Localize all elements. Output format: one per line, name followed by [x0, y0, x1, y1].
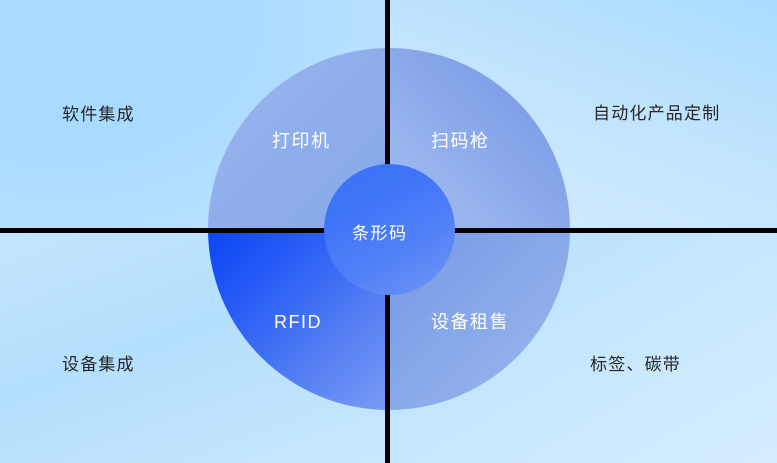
segment-label-printer: 打印机	[272, 132, 331, 150]
outer-label-labels-ribbons: 标签、碳带	[590, 356, 681, 373]
outer-label-software-integration: 软件集成	[62, 106, 135, 123]
segment-label-scanner: 扫码枪	[431, 132, 490, 150]
core-label-barcode: 条形码	[352, 225, 408, 242]
segment-label-rfid: RFID	[274, 313, 322, 331]
outer-label-device-integration: 设备集成	[62, 356, 135, 373]
outer-label-automation-custom: 自动化产品定制	[593, 105, 720, 122]
segment-label-equipment-rental: 设备租售	[431, 313, 509, 331]
diagram-canvas: 条形码 打印机 扫码枪 RFID 设备租售 软件集成 自动化产品定制 设备集成 …	[0, 0, 777, 463]
